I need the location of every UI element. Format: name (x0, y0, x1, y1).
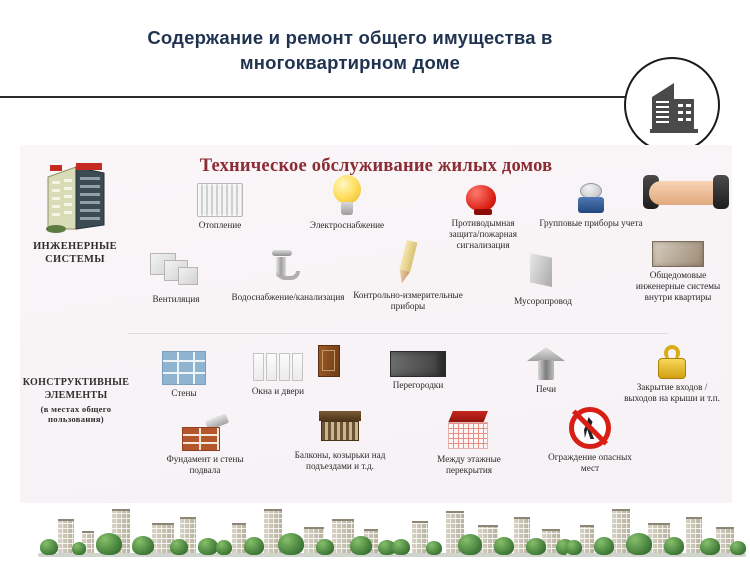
item-hazard-fencing[interactable]: Ограждение опасных мест (542, 407, 638, 474)
header-badge (624, 57, 720, 153)
door-icon (316, 345, 342, 383)
brick-wall-icon (162, 351, 206, 385)
apartment-building-icon (42, 155, 120, 237)
page-header: Содержание и ремонт общего имущества в м… (0, 0, 750, 132)
cityscape-illustration (212, 503, 400, 561)
padlock-icon (657, 345, 687, 379)
cityscape-illustration (390, 503, 578, 561)
garbage-chute-icon (526, 253, 560, 293)
cityscape-band (0, 503, 750, 561)
item-roof-access-closure[interactable]: Закрытие входов / выходов на крыши и т.п… (620, 345, 724, 404)
section-label-text: КОНСТРУКТИВНЫЕ ЭЛЕМЕНТЫ (23, 377, 130, 401)
section-sublabel-text: (в местах общего пользования) (20, 404, 132, 425)
item-foundation[interactable]: Фундамент и стены подвала (150, 417, 260, 476)
handshake-decoration (642, 167, 730, 222)
panel-title: Техническое обслуживание жилых домов (20, 156, 732, 177)
ventilation-ducts-icon (150, 253, 202, 291)
cityscape-illustration (34, 503, 222, 561)
chimney-cap-icon (527, 347, 565, 381)
section-label-structural-elements: КОНСТРУКТИВНЫЕ ЭЛЕМЕНТЫ (в местах общего… (20, 377, 132, 425)
item-in-apartment-systems[interactable]: Общедомовые инженерные системы внутри кв… (628, 241, 728, 304)
item-garbage-chute[interactable]: Мусоропровод (492, 253, 594, 307)
window-icon (252, 353, 304, 383)
header-divider (0, 96, 628, 98)
section-divider (128, 333, 668, 334)
fire-alarm-bell-icon (466, 183, 500, 215)
water-meter-icon (575, 183, 607, 215)
cityscape-illustration (562, 503, 750, 561)
water-tap-icon (270, 249, 306, 289)
item-ventilation[interactable]: Вентиляция (134, 253, 218, 305)
brick-foundation-trowel-icon (182, 417, 228, 451)
item-interfloor-slabs[interactable]: Между этажные перекрытия (416, 411, 522, 476)
radiator-icon (197, 183, 243, 217)
partition-block-icon (390, 351, 446, 377)
item-group-meters[interactable]: Групповые приборы учета (532, 183, 650, 229)
item-door[interactable] (312, 345, 346, 386)
section-label-engineering-systems: ИНЖЕНЕРНЫЕ СИСТЕМЫ (22, 240, 128, 266)
item-measuring-devices[interactable]: Контрольно-измерительные приборы (350, 241, 466, 312)
office-building-icon (648, 79, 700, 135)
infographic-panel: Техническое обслуживание жилых домов ИНЖ… (20, 145, 732, 503)
pencil-measuring-icon (392, 239, 424, 289)
item-heating[interactable]: Отопление (178, 183, 262, 231)
light-bulb-icon (331, 175, 363, 217)
item-partitions[interactable]: Перегородки (370, 351, 466, 391)
circuit-board-icon (652, 241, 704, 267)
no-pedestrian-sign-icon (569, 407, 611, 449)
floor-slab-icon (446, 411, 492, 451)
balcony-icon (319, 411, 361, 447)
page-title: Содержание и ремонт общего имущества в м… (70, 26, 630, 76)
item-balconies[interactable]: Балконы, козырьки над подъездами и т.д. (288, 411, 392, 472)
item-water-supply[interactable]: Водоснабжение/канализация (220, 249, 356, 303)
handshake-icon (643, 167, 729, 219)
item-walls[interactable]: Стены (146, 351, 222, 399)
item-stoves[interactable]: Печи (510, 347, 582, 395)
item-electricity[interactable]: Электроснабжение (292, 175, 402, 231)
